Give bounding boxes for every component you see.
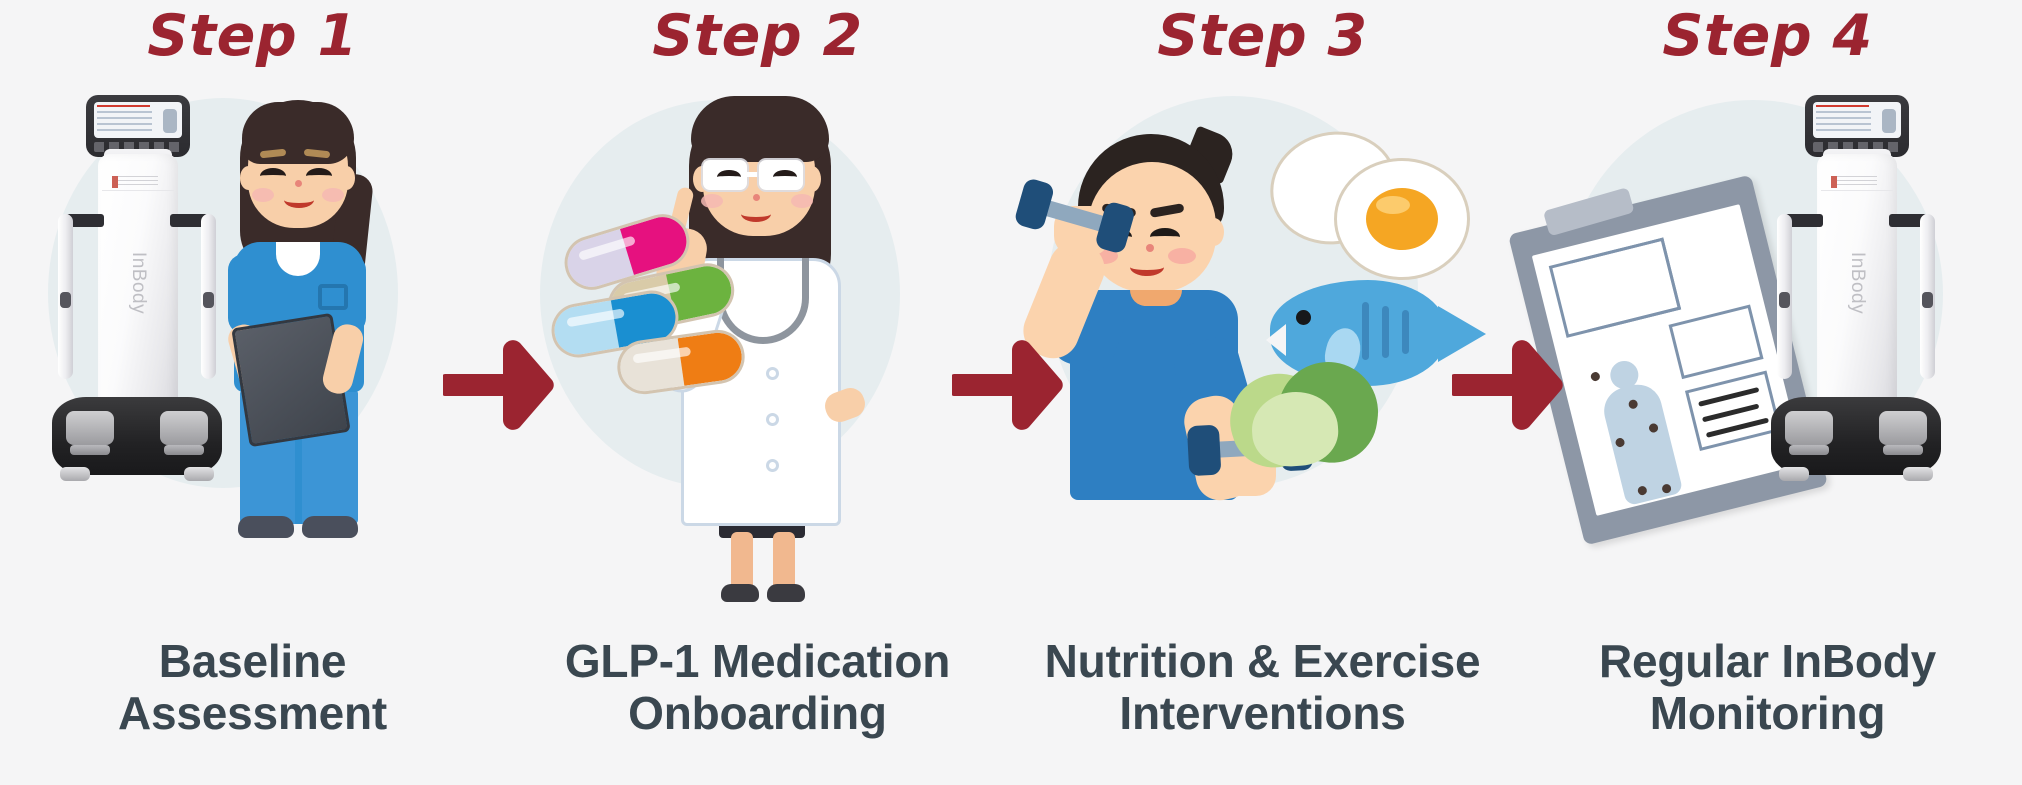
inbody-label-mark (112, 176, 158, 188)
inbody-foot-platform (52, 397, 222, 475)
nurse-eye-right (306, 168, 332, 184)
inbody-analyzer-icon: InBody (52, 130, 222, 475)
step-card-2[interactable]: Step 2 (505, 0, 1010, 785)
step-2-caption-line2: Onboarding (628, 687, 887, 739)
step-card-1[interactable]: Step 1 InBody (0, 0, 505, 785)
result-table-mid (1669, 305, 1764, 380)
inbody-hand-electrode-right (201, 214, 216, 379)
inbody-screen (94, 102, 182, 138)
nurse-shoe-right (302, 516, 358, 538)
result-table-rows (1570, 238, 1681, 333)
step-1-caption-line1: Baseline (159, 635, 347, 687)
nurse-nose (295, 180, 302, 187)
body-diagram (1599, 380, 1683, 507)
inbody-column-2: InBody (1817, 154, 1897, 409)
step-3-title: Step 3 (1010, 4, 1515, 70)
step-1-caption-line2: Assessment (118, 687, 387, 739)
arrow-step1-to-step2-icon (443, 340, 558, 430)
step-3-caption-line2: Interventions (1119, 687, 1405, 739)
inbody-hand-electrode-left (58, 214, 73, 379)
arrow-step3-to-step4-icon (1452, 340, 1567, 430)
clipboard-clip (1543, 187, 1635, 236)
fish-eye (1296, 310, 1311, 325)
nurse-smile (284, 192, 314, 208)
clipboard-paper (1532, 204, 1804, 516)
step-1-title: Step 1 (0, 4, 505, 70)
step-card-4[interactable]: Step 4 (1515, 0, 2020, 785)
step-card-3[interactable]: Step 3 (1010, 0, 1515, 785)
capsule-pills-group (545, 225, 765, 400)
doctor-shoe-right (767, 584, 805, 602)
inbody-brand-logo: InBody (127, 252, 149, 314)
inbody-display-head (86, 95, 190, 157)
step-4-title: Step 4 (1515, 4, 2020, 70)
step-4-caption-line1: Regular InBody (1599, 635, 1936, 687)
boiled-egg-half-icon (1334, 158, 1470, 280)
egg-yolk (1366, 188, 1438, 250)
inbody-analyzer-icon-2: InBody (1771, 130, 1941, 475)
athlete-smile (1130, 258, 1164, 276)
inbody-screen-body-figure-2 (1882, 109, 1896, 133)
body-diagram-head (1607, 358, 1641, 392)
inbody-foot-platform-2 (1771, 397, 1941, 475)
inbody-screen-2 (1813, 102, 1901, 138)
doctor-fringe (691, 96, 829, 162)
doctor-glasses-icon (703, 160, 815, 190)
athlete-eye-right (1150, 228, 1180, 246)
inbody-seam (102, 190, 174, 191)
step-4-caption: Regular InBody Monitoring (1515, 636, 2020, 739)
step-3-caption-line1: Nutrition & Exercise (1045, 635, 1481, 687)
nurse-figure (222, 92, 382, 542)
step-3-caption: Nutrition & Exercise Interventions (1010, 636, 1515, 739)
inbody-column: InBody (98, 154, 178, 409)
nurse-eye-left (260, 168, 286, 184)
nurse-shoe-left (238, 516, 294, 538)
inbody-screen-body-figure (163, 109, 177, 133)
doctor-shoe-left (721, 584, 759, 602)
step-2-title: Step 2 (505, 4, 1010, 70)
inbody-display-head-2 (1805, 95, 1909, 157)
arrow-step2-to-step3-icon (952, 340, 1067, 430)
inbody-hand-electrode-left-2 (1777, 214, 1792, 379)
inbody-hand-electrode-right-2 (1920, 214, 1935, 379)
step-2-caption-line1: GLP-1 Medication (565, 635, 950, 687)
nurse-fringe (242, 102, 354, 164)
process-flow-infographic: Step 1 InBody (0, 0, 2022, 785)
step-4-caption-line2: Monitoring (1650, 687, 1886, 739)
step-1-caption: Baseline Assessment (0, 636, 505, 739)
step-2-caption: GLP-1 Medication Onboarding (505, 636, 1010, 739)
lettuce-icon (1230, 358, 1410, 468)
inbody-brand-logo-2: InBody (1846, 252, 1868, 314)
